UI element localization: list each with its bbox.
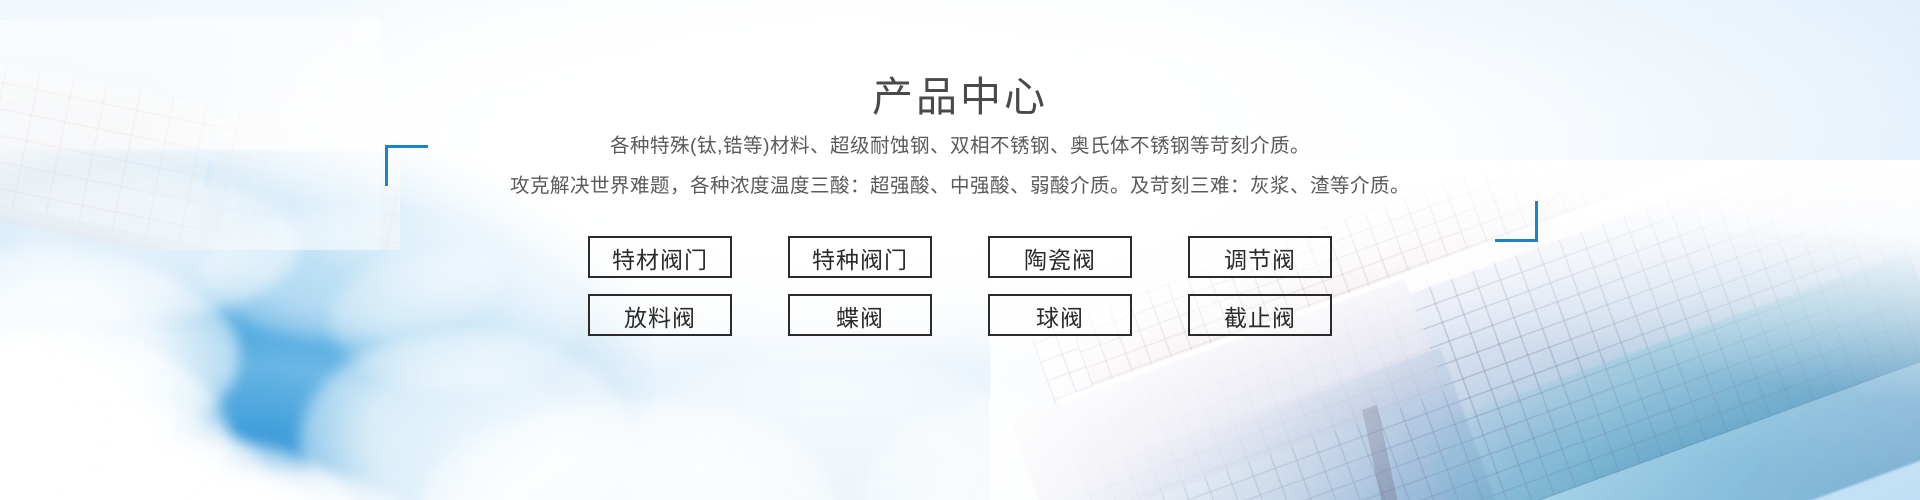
category-button-fangliao-fa[interactable]: 放料阀: [588, 294, 732, 336]
category-row-bottom: 放料阀 蝶阀 球阀 截止阀: [588, 294, 1332, 336]
category-row-top: 特材阀门 特种阀门 陶瓷阀 调节阀: [588, 236, 1332, 278]
category-button-tezhong-famen[interactable]: 特种阀门: [788, 236, 932, 278]
corner-bracket-bottom-right-icon: [1495, 201, 1538, 242]
category-button-tecai-famen[interactable]: 特材阀门: [588, 236, 732, 278]
description-line-1: 各种特殊(钛,锆等)材料、超级耐蚀钢、双相不锈钢、奥氏体不锈钢等苛刻介质。: [0, 126, 1920, 166]
category-button-grid: 特材阀门 特种阀门 陶瓷阀 调节阀 放料阀 蝶阀 球阀 截止阀: [588, 236, 1332, 336]
page-title: 产品中心: [0, 73, 1920, 122]
category-button-tiaojie-fa[interactable]: 调节阀: [1188, 236, 1332, 278]
category-button-jiezhi-fa[interactable]: 截止阀: [1188, 294, 1332, 336]
category-button-qiu-fa[interactable]: 球阀: [988, 294, 1132, 336]
category-button-taoci-fa[interactable]: 陶瓷阀: [988, 236, 1132, 278]
banner-content: 产品中心 各种特殊(钛,锆等)材料、超级耐蚀钢、双相不锈钢、奥氏体不锈钢等苛刻介…: [0, 0, 1920, 500]
description-line-2: 攻克解决世界难题，各种浓度温度三酸：超强酸、中强酸、弱酸介质。及苛刻三难：灰浆、…: [0, 166, 1920, 206]
product-center-banner: 产品中心 各种特殊(钛,锆等)材料、超级耐蚀钢、双相不锈钢、奥氏体不锈钢等苛刻介…: [0, 0, 1920, 500]
banner-description: 各种特殊(钛,锆等)材料、超级耐蚀钢、双相不锈钢、奥氏体不锈钢等苛刻介质。 攻克…: [0, 126, 1920, 206]
category-button-die-fa[interactable]: 蝶阀: [788, 294, 932, 336]
